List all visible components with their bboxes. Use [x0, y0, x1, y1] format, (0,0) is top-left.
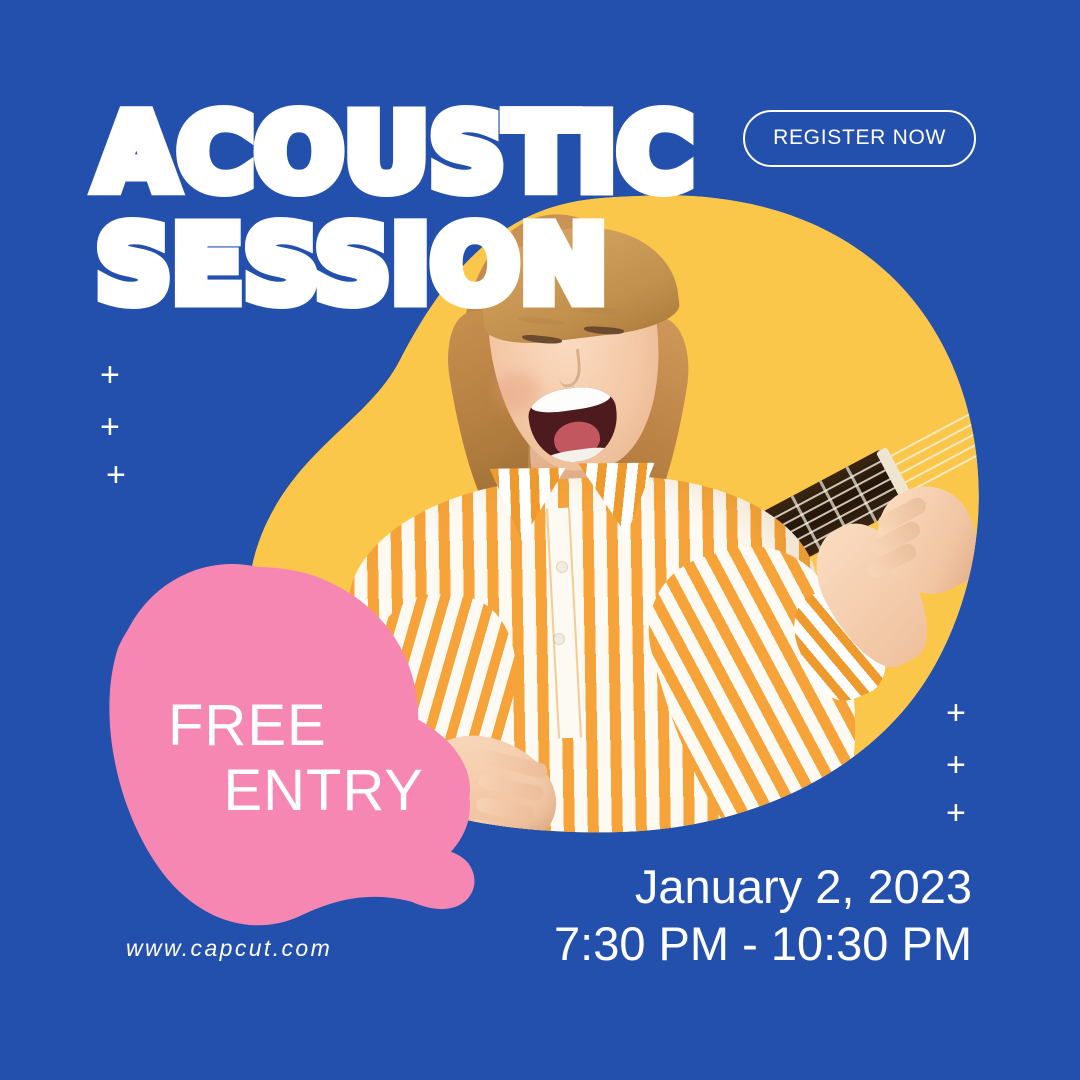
free-entry-line-2: ENTRY: [168, 759, 428, 824]
event-time: 7:30 PM - 10:30 PM: [554, 916, 972, 972]
free-entry-line-1: FREE: [168, 694, 428, 759]
plus-icon: +: [100, 410, 120, 444]
headline-line-1: ACOUSTIC: [96, 104, 696, 204]
plus-icon: +: [946, 796, 966, 830]
shirt-button: [554, 634, 564, 644]
plus-icon: +: [100, 358, 120, 392]
plus-icon: +: [106, 458, 126, 492]
poster-canvas: ACOUSTIC SESSION REGISTER NOW FREE ENTRY…: [0, 0, 1080, 1080]
free-entry-badge: FREE ENTRY: [168, 694, 428, 824]
event-date: January 2, 2023: [554, 859, 972, 915]
headline-line-2: SESSION: [96, 216, 696, 316]
plus-icon: +: [946, 696, 966, 730]
plus-icon: +: [946, 748, 966, 782]
website-url[interactable]: www.capcut.com: [126, 935, 332, 962]
event-datetime: January 2, 2023 7:30 PM - 10:30 PM: [554, 859, 972, 972]
register-now-button[interactable]: REGISTER NOW: [743, 110, 976, 167]
shirt-button: [557, 562, 567, 572]
page-title: ACOUSTIC SESSION: [96, 104, 696, 316]
